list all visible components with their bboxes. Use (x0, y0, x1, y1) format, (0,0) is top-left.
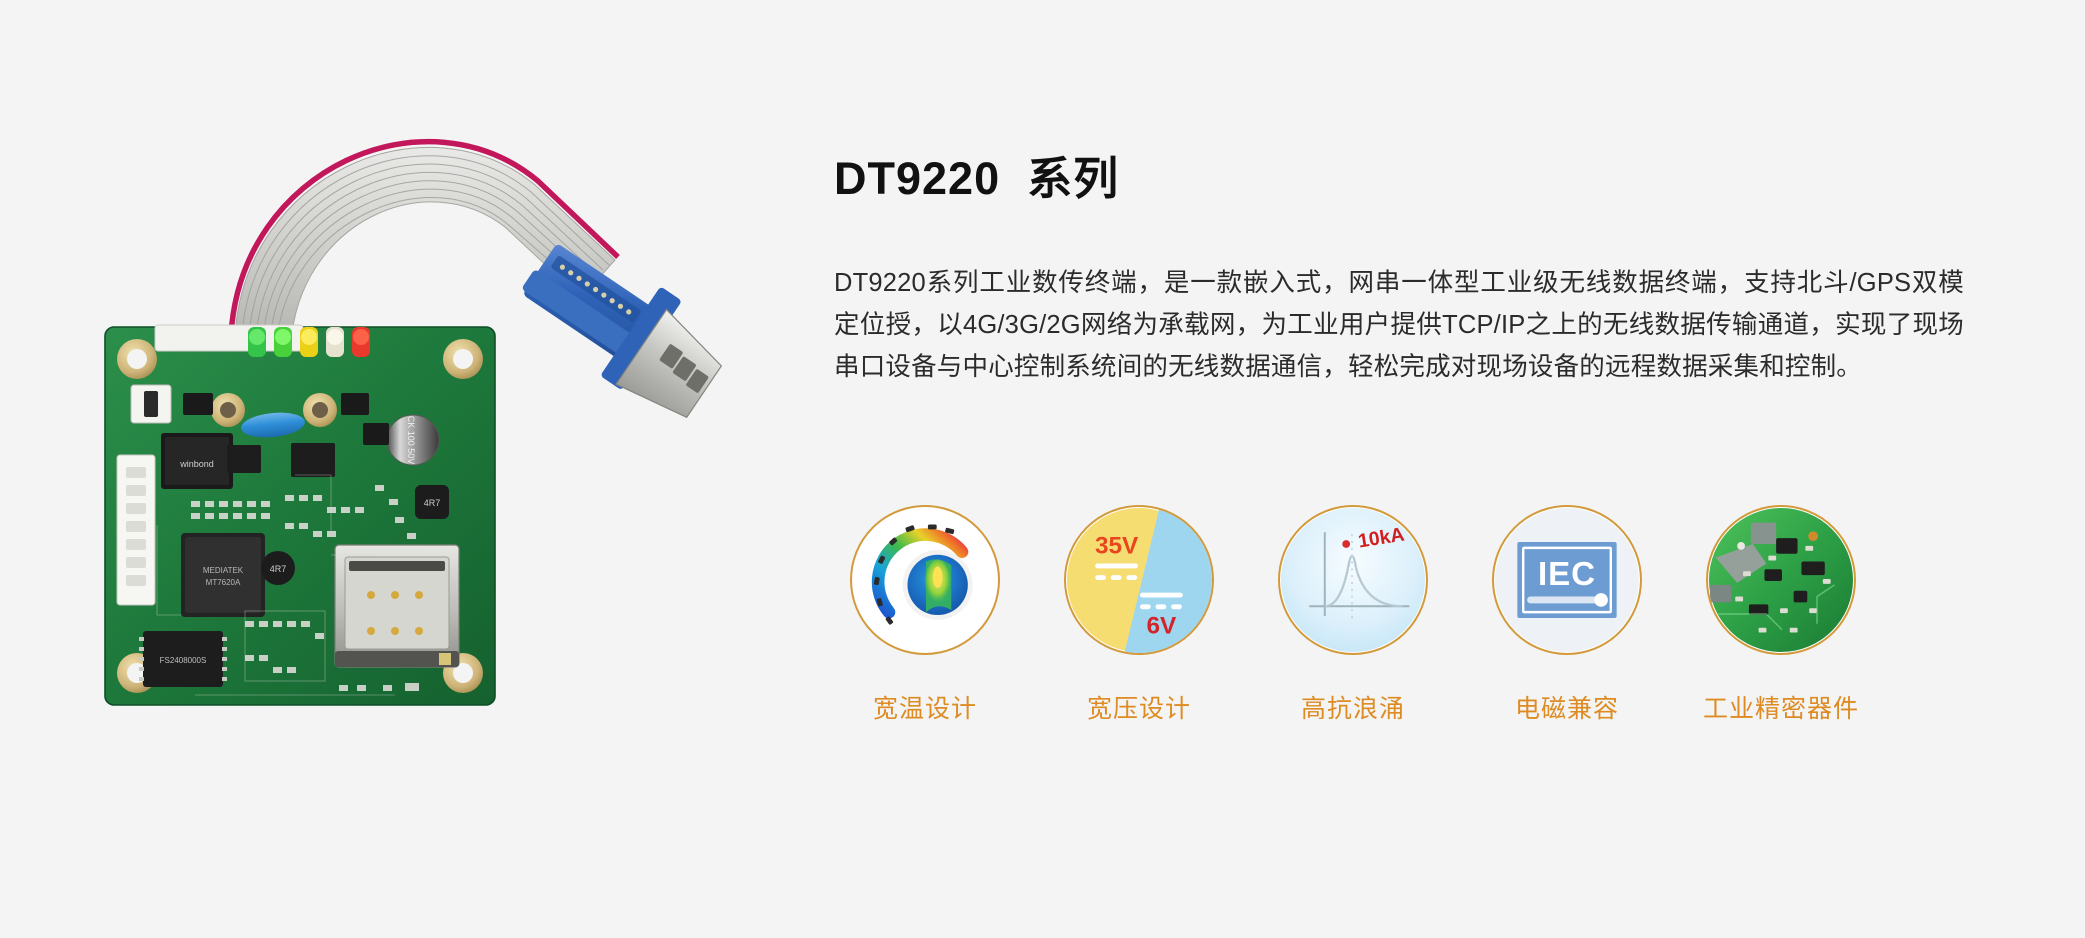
product-showcase-page: winbond MEDIATEK MT7620A FS2408000S (0, 0, 2085, 938)
electrolytic-capacitor: CK 100 50V (387, 415, 439, 465)
soc-chip: MEDIATEK MT7620A (181, 533, 265, 617)
product-image: winbond MEDIATEK MT7620A FS2408000S (95, 55, 775, 775)
slide-switch (131, 385, 171, 423)
gold-pad (439, 653, 451, 665)
feature-item-emc[interactable]: IEC 电磁兼容 (1476, 505, 1658, 725)
product-description: DT9220系列工业数传终端，是一款嵌入式，网串一体型工业级无线数据终端，支持北… (834, 262, 1964, 388)
svg-text:winbond: winbond (179, 459, 214, 469)
voltage-low-value: 6V (1147, 613, 1178, 640)
pcb-board: winbond MEDIATEK MT7620A FS2408000S (105, 325, 495, 705)
voltage-high-value: 35V (1095, 533, 1139, 560)
iec-certification-icon: IEC (1492, 505, 1642, 655)
diode-2 (341, 393, 369, 415)
feature-label: 宽温设计 (873, 689, 977, 725)
svg-text:CK 100 50V: CK 100 50V (406, 416, 416, 465)
wide-voltage-split-icon: 35V 6V (1064, 505, 1214, 655)
surge-protection-curve-icon: 10kA (1278, 505, 1428, 655)
ram-chip: FS2408000S (139, 631, 227, 687)
wide-temperature-gauge-icon (850, 505, 1000, 655)
feature-label: 电磁兼容 (1515, 689, 1619, 725)
svg-text:MEDIATEK: MEDIATEK (203, 566, 244, 575)
feature-item-wide-temperature[interactable]: 宽温设计 (834, 505, 1016, 725)
feature-list: 宽温设计 35V (834, 505, 2014, 725)
product-info-panel: DT9220 系列 DT9220系列工业数传终端，是一款嵌入式，网串一体型工业级… (834, 0, 2034, 938)
feature-item-industrial-components[interactable]: 工业精密器件 (1690, 505, 1872, 725)
feature-label: 工业精密器件 (1703, 689, 1859, 725)
page-title: DT9220 系列 (834, 142, 1119, 207)
flash-chip: winbond (161, 433, 233, 489)
io-header-connector (117, 455, 155, 605)
diode-1 (183, 393, 213, 415)
soic-chip-2 (227, 445, 261, 473)
sim-card-slot (335, 545, 459, 667)
svg-text:4R7: 4R7 (424, 498, 441, 508)
feature-label: 高抗浪涌 (1301, 689, 1405, 725)
feature-item-wide-voltage[interactable]: 35V 6V (1048, 505, 1230, 725)
feature-item-surge-protection[interactable]: 10kA 高抗浪涌 (1262, 505, 1444, 725)
diode-3 (363, 423, 389, 445)
svg-text:FS2408000S: FS2408000S (160, 656, 207, 665)
industrial-pcb-closeup-icon (1706, 505, 1856, 655)
svg-text:4R7: 4R7 (270, 564, 287, 574)
svg-text:MT7620A: MT7620A (206, 578, 241, 587)
soic-chip-1 (291, 443, 335, 477)
iec-label: IEC (1538, 556, 1596, 593)
feature-label: 宽压设计 (1087, 689, 1191, 725)
